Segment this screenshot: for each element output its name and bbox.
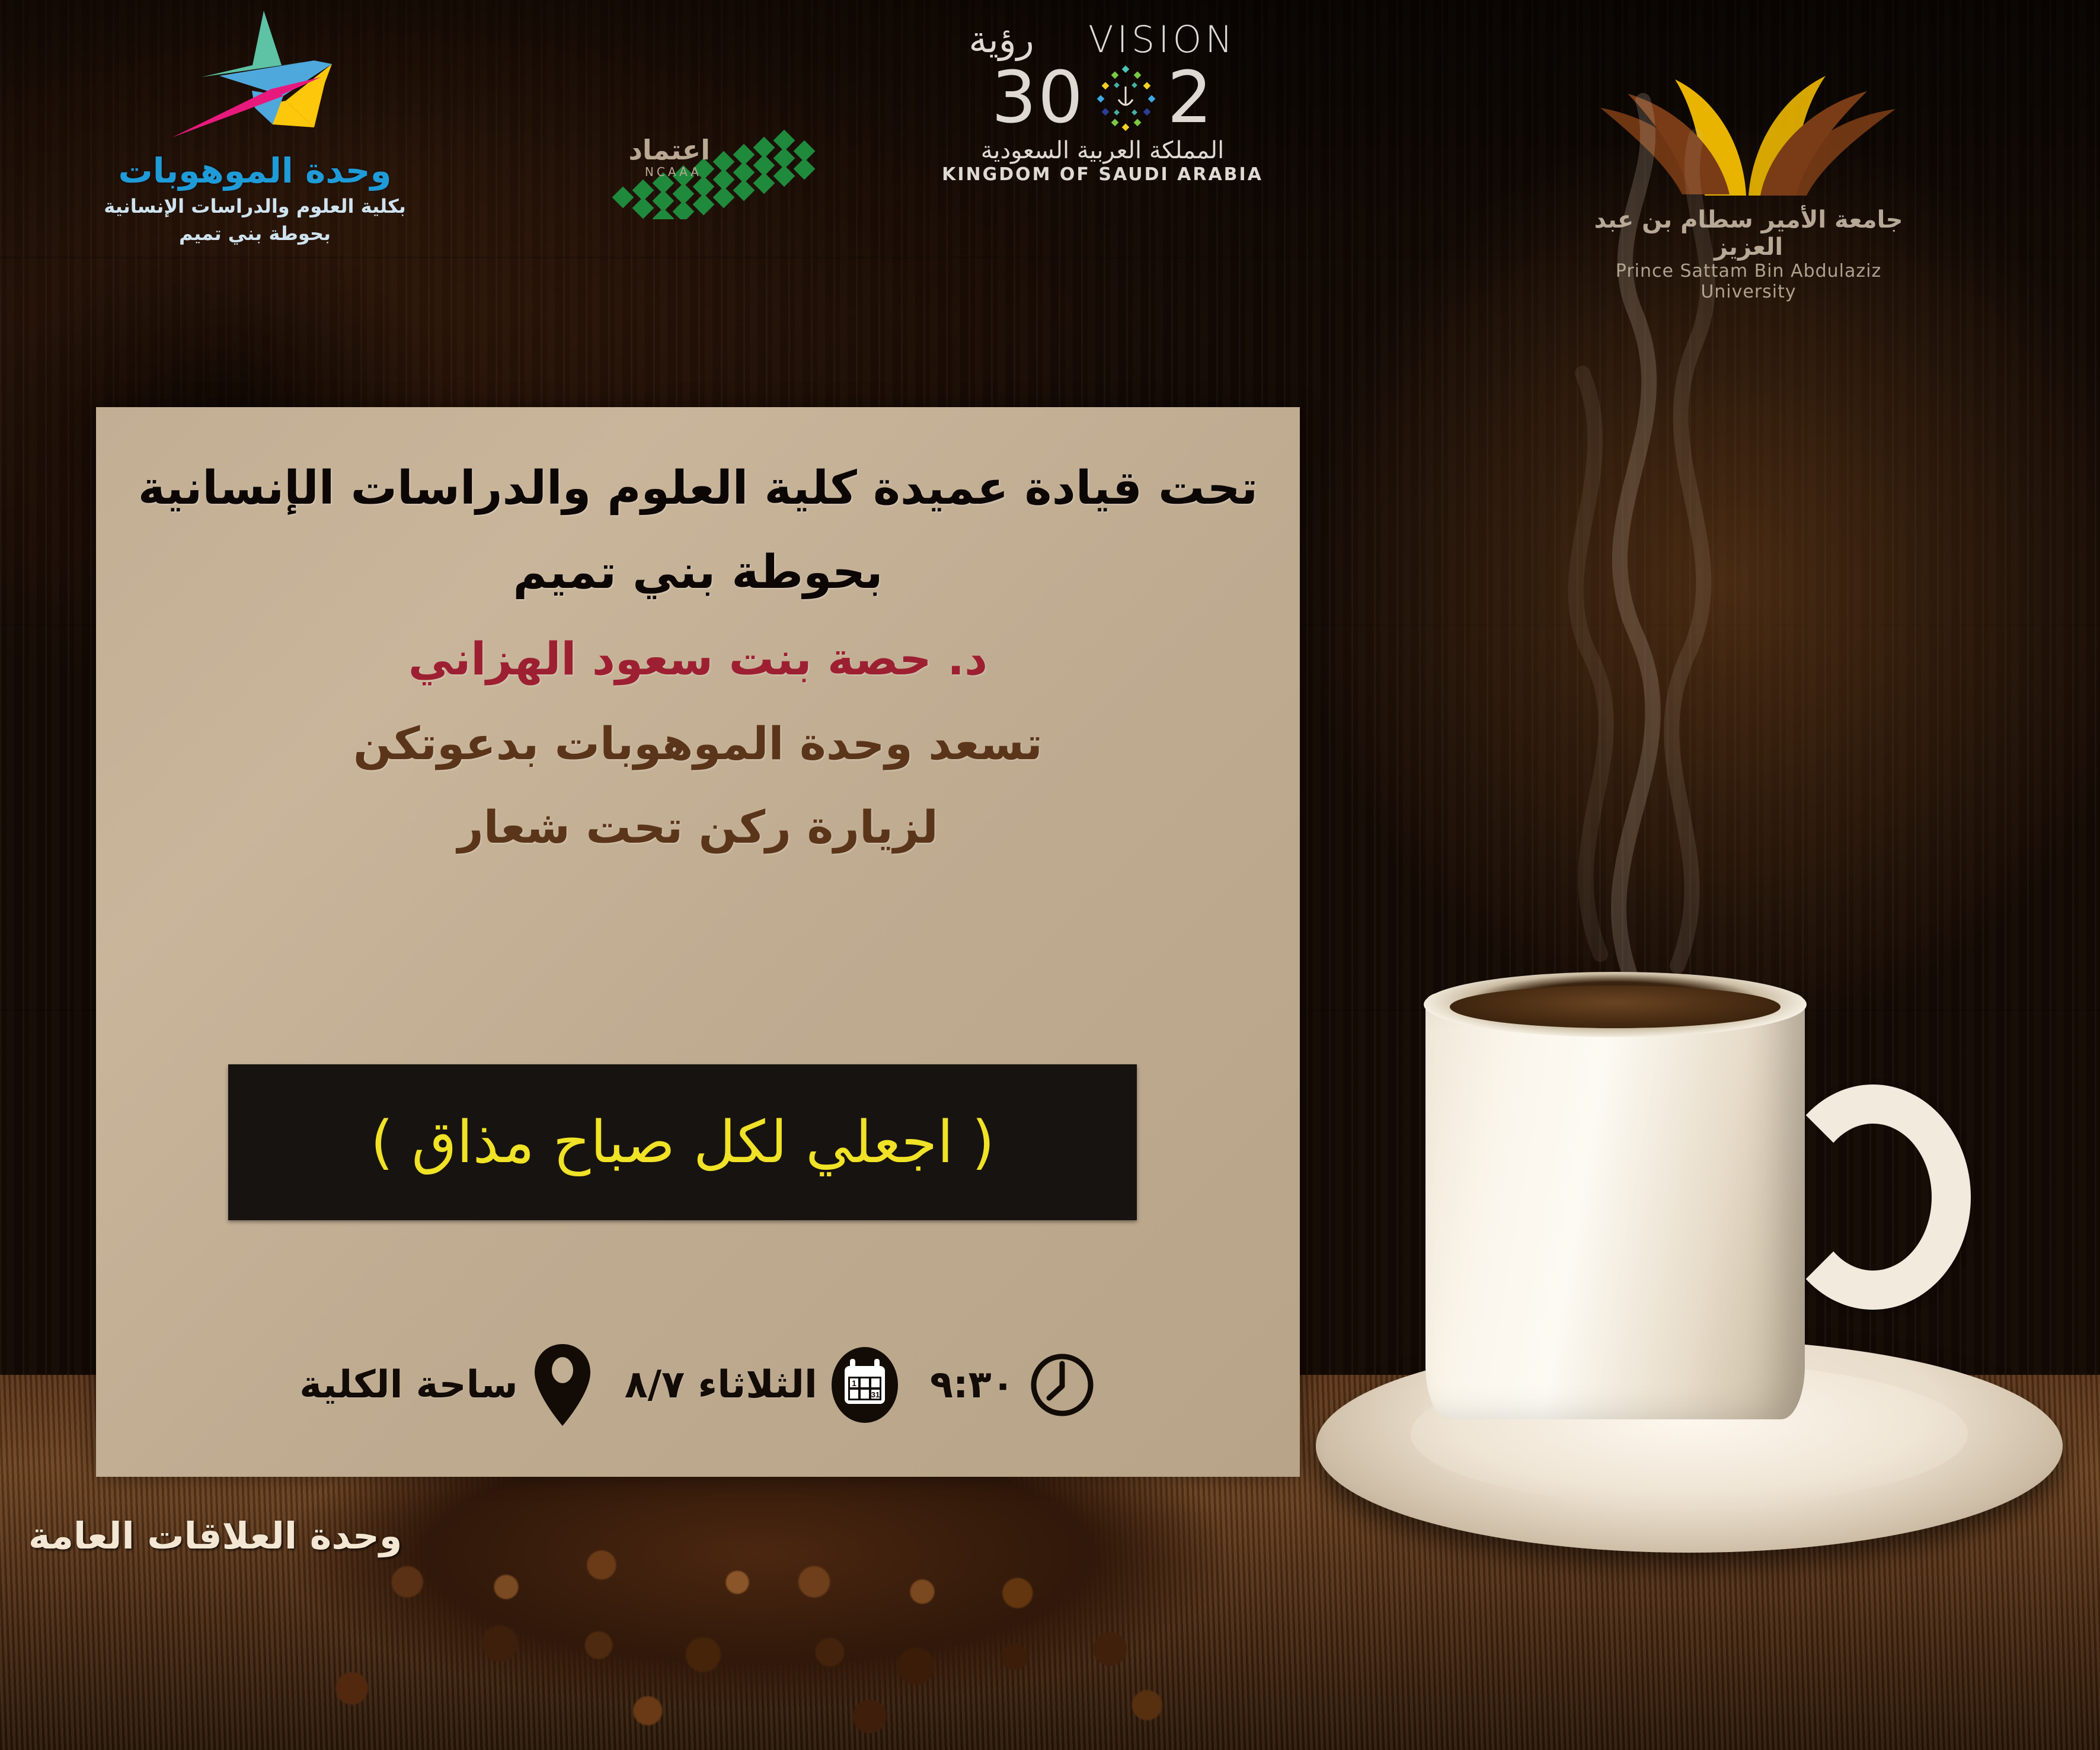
panel-line-2: بحوطة بني تميم (96, 546, 1300, 599)
slogan-box: ( اجعلي لكل صباح مذاق ) (228, 1064, 1137, 1220)
content-panel: تحت قيادة عميدة كلية العلوم والدراسات ال… (96, 407, 1300, 1477)
event-location: ساحة الكلية (299, 1342, 593, 1428)
ncaaa-word-ar: اعتماد (628, 134, 710, 166)
ncaaa-word-en: NCAAA (645, 165, 702, 179)
event-info-row: ٩:٣٠ 1 (96, 1338, 1300, 1432)
event-date-value: الثلاثاء ٨/٧ (625, 1363, 817, 1407)
coffee-mug (1425, 993, 1805, 1419)
coffee-liquid (1450, 986, 1781, 1028)
vision-label-en: VISION (1088, 18, 1236, 61)
panel-line-4: لزيارة ركن تحت شعار (96, 801, 1300, 853)
coffee-beans-pile-front (367, 1517, 1138, 1750)
panel-line-3: تسعد وحدة الموهوبات بدعوتكن (96, 717, 1300, 770)
talented-unit-title: وحدة الموهوبات (89, 151, 421, 191)
talented-unit-logo: وحدة الموهوبات بكلية العلوم والدراسات ال… (89, 6, 421, 284)
vision-label-ar: رؤية (969, 18, 1034, 61)
ncaaa-logo: اعتماد NCAAA (605, 101, 842, 219)
map-pin-icon (531, 1342, 594, 1428)
event-location-value: ساحة الكلية (299, 1363, 517, 1407)
talented-unit-subtitle-line1: بكلية العلوم والدراسات الإنسانية (89, 194, 421, 218)
event-time: ٩:٣٠ (930, 1351, 1097, 1419)
event-date: 1 31 الثلاثاء ٨/٧ (625, 1346, 899, 1424)
vision-country-ar: المملكة العربية السعودية (925, 137, 1280, 164)
poster-root: وحدة الموهوبات بكلية العلوم والدراسات ال… (0, 0, 2100, 1750)
vision-wordmark: VISION رؤية (925, 18, 1280, 61)
footer-credit: وحدة العلاقات العامة (28, 1514, 402, 1557)
clock-icon (1028, 1351, 1097, 1419)
dean-name: د. حصة بنت سعود الهزاني (96, 632, 1300, 685)
slogan-text: ( اجعلي لكل صباح مذاق ) (370, 1109, 995, 1176)
talented-unit-subtitle-line2: بحوطة بني تميم (89, 222, 421, 245)
panel-line-1: تحت قيادة عميدة كلية العلوم والدراسات ال… (96, 462, 1300, 515)
vision-2030-logo: VISION رؤية 2 (925, 18, 1280, 255)
vision-emblem-icon (1090, 63, 1161, 134)
event-time-value: ٩:٣٠ (930, 1363, 1015, 1407)
vision-year: 2 (925, 61, 1280, 136)
coffee-scene (1274, 889, 2100, 1659)
vision-country-en: KINGDOM OF SAUDI ARABIA (925, 164, 1280, 185)
steam-icon (1488, 65, 1796, 1002)
calendar-icon: 1 31 (830, 1346, 899, 1424)
svg-text:31: 31 (871, 1390, 880, 1399)
star-swoosh-icon (136, 6, 373, 154)
svg-text:1: 1 (852, 1378, 856, 1388)
